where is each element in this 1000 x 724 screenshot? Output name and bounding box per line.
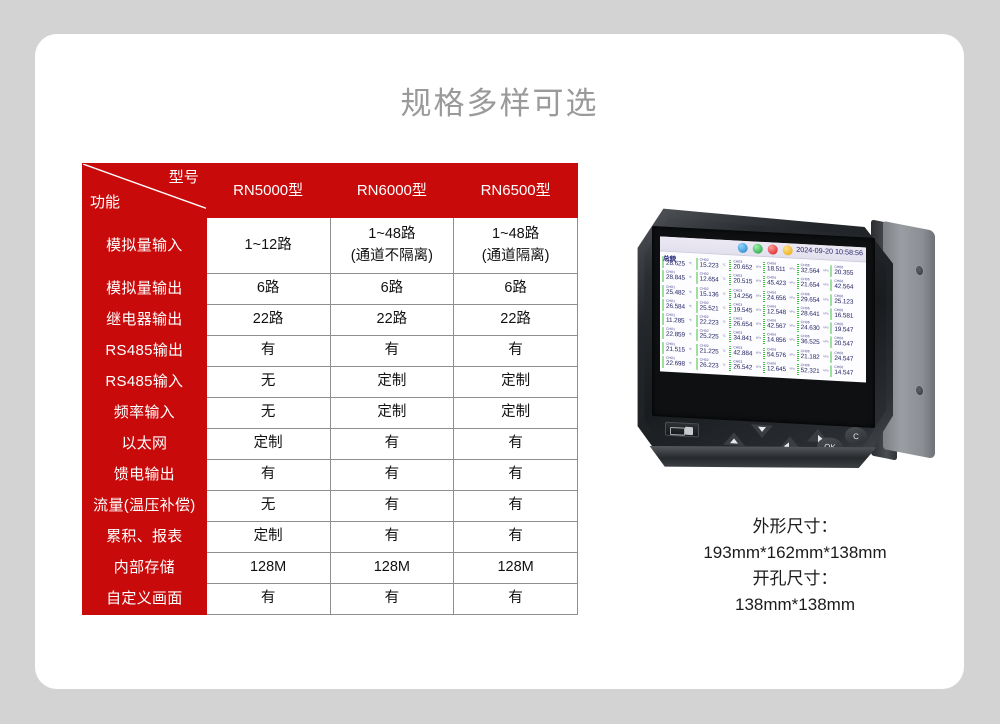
down-button[interactable] — [751, 424, 773, 438]
table-cell: 6路 — [206, 274, 330, 305]
table-cell: 有 — [454, 460, 578, 491]
channel-bar-indicator — [729, 346, 731, 357]
table-row: 自定义画面 有 有 有 — [83, 584, 578, 615]
cell-value: 1~12路 — [245, 237, 292, 253]
channel-bar-indicator — [763, 319, 765, 330]
column-header-model-1: RN5000型 — [206, 164, 330, 218]
table-row: 累积、报表 定制 有 有 — [83, 522, 578, 553]
screw-icon — [916, 385, 923, 395]
table-cell: 定制 — [454, 367, 578, 398]
channel-bar-indicator — [662, 356, 664, 367]
column-header-model-2: RN6000型 — [330, 164, 454, 218]
cutout-dimension-label: 开孔尺寸： — [600, 566, 990, 592]
table-cell: 有 — [330, 429, 454, 460]
recorder-device: 2024-09-20 10:58:56 总貌 ℃CH0128.625℃CH021… — [635, 206, 935, 471]
channel-unit: kPa — [790, 338, 795, 342]
channel-bar-indicator — [696, 344, 698, 355]
channel-bar-indicator — [662, 285, 664, 296]
table-cell: 有 — [454, 491, 578, 522]
channel-unit: ℃ — [722, 348, 725, 352]
spec-table-body: 型号 功能 RN5000型 RN6000型 RN6500型 模拟量输入 1~12… — [83, 164, 578, 615]
bell-icon[interactable] — [768, 244, 778, 255]
table-cell: 有 — [330, 336, 454, 367]
lcd-timestamp: 2024-09-20 10:58:56 — [796, 245, 863, 258]
channel-bar-indicator — [763, 362, 765, 373]
channel-bar-indicator — [763, 333, 765, 344]
table-cell: 1~48路 (通道隔离) — [454, 218, 578, 274]
table-cell: 128M — [206, 553, 330, 584]
channel-unit: ℃ — [689, 289, 692, 293]
table-row: 模拟量输出 6路 6路 6路 — [83, 274, 578, 305]
lcd-toolbar-icons — [738, 243, 793, 256]
channel-unit: ℃ — [722, 320, 725, 324]
cell-subvalue: (通道不隔离) — [331, 246, 454, 267]
channel-unit: ℃ — [689, 318, 692, 322]
cell-subvalue: (通道隔离) — [454, 246, 577, 267]
table-cell: 有 — [206, 336, 330, 367]
channel-unit: kPa — [790, 366, 795, 370]
table-row: 内部存储 128M 128M 128M — [83, 553, 578, 584]
channel-bar-indicator — [830, 323, 832, 334]
lcd-channel-grid: ℃CH0128.625℃CH0215.223℃CH0320.652kPaCH04… — [660, 254, 866, 382]
channel-unit: ℃ — [722, 363, 725, 367]
channel-bar-indicator — [830, 351, 832, 362]
channel-unit: kPa — [823, 311, 828, 315]
channel-bar-indicator — [662, 314, 664, 325]
channel-bar-indicator — [797, 335, 799, 346]
channel-unit: kPa — [790, 352, 795, 356]
channel-unit: ℃ — [722, 263, 725, 267]
channel-unit: ℃ — [689, 361, 692, 365]
channel-bar-indicator — [729, 274, 731, 285]
clear-button[interactable]: C — [845, 426, 867, 445]
channel-unit: kPa — [756, 364, 761, 368]
key-icon[interactable] — [783, 245, 793, 256]
corner-header-cell: 型号 功能 — [83, 164, 207, 218]
channel-unit: kPa — [823, 354, 828, 358]
channel-unit: kPa — [756, 322, 761, 326]
channel-unit: kPa — [790, 309, 795, 313]
corner-row-header: 功能 — [90, 192, 120, 214]
channel-unit: kPa — [790, 266, 795, 270]
up-button[interactable] — [723, 432, 745, 446]
product-photo: 2024-09-20 10:58:56 总貌 ℃CH0128.625℃CH021… — [600, 184, 990, 654]
channel-unit: kPa — [756, 279, 761, 283]
table-row: 流量(温压补偿) 无 有 有 — [83, 491, 578, 522]
table-cell: 无 — [206, 491, 330, 522]
table-cell: 无 — [206, 398, 330, 429]
channel-bar-indicator — [696, 315, 698, 326]
device-screen-bezel: 2024-09-20 10:58:56 总貌 ℃CH0128.625℃CH021… — [652, 226, 875, 428]
row-header: 频率输入 — [83, 398, 207, 429]
row-header: 流量(温压补偿) — [83, 491, 207, 522]
channel-bar-indicator — [830, 365, 832, 376]
table-row: RS485输入 无 定制 定制 — [83, 367, 578, 398]
table-cell: 无 — [206, 367, 330, 398]
channel-unit: kPa — [790, 281, 795, 285]
row-header: 自定义画面 — [83, 584, 207, 615]
table-cell: 有 — [330, 584, 454, 615]
table-cell: 6路 — [454, 274, 578, 305]
outline-dimension-value: 193mm*162mm*138mm — [600, 540, 990, 566]
channel-unit: kPa — [823, 325, 828, 329]
channel-bar-indicator — [763, 262, 765, 273]
content-card: 规格多样可选 型号 功能 RN5000型 RN6000型 RN6500型 模拟量… — [35, 34, 964, 689]
refresh-icon[interactable] — [753, 243, 763, 254]
table-cell: 定制 — [206, 522, 330, 553]
row-header: 内部存储 — [83, 553, 207, 584]
table-cell: 有 — [330, 460, 454, 491]
channel-bar-indicator — [696, 287, 698, 298]
table-cell: 22路 — [454, 305, 578, 336]
dimension-info: 外形尺寸： 193mm*162mm*138mm 开孔尺寸： 138mm*138m… — [600, 514, 990, 618]
cell-value: 1~48路 — [492, 226, 539, 242]
table-cell: 定制 — [454, 398, 578, 429]
channel-unit: kPa — [823, 368, 828, 372]
channel-unit: ℃ — [689, 346, 692, 350]
channel-bar-indicator — [797, 278, 799, 289]
channel-unit: kPa — [756, 307, 761, 311]
channel-unit: kPa — [823, 297, 828, 301]
row-header: 模拟量输出 — [83, 274, 207, 305]
table-cell: 1~12路 — [206, 218, 330, 274]
channel-bar-indicator — [763, 276, 765, 287]
table-cell: 有 — [206, 460, 330, 491]
table-cell: 定制 — [330, 367, 454, 398]
channel-bar-indicator — [729, 260, 731, 271]
channel-unit: ℃ — [689, 275, 692, 279]
usb-port[interactable] — [665, 422, 699, 438]
row-header: RS485输出 — [83, 336, 207, 367]
table-cell: 有 — [454, 429, 578, 460]
channel-bar-indicator — [729, 317, 731, 328]
page-title: 规格多样可选 — [35, 78, 964, 123]
row-header: RS485输入 — [83, 367, 207, 398]
table-cell: 有 — [454, 584, 578, 615]
channel-bar-indicator — [696, 330, 698, 341]
pencil-icon[interactable] — [738, 243, 748, 254]
row-header: 继电器输出 — [83, 305, 207, 336]
channel-unit: kPa — [823, 339, 828, 343]
channel-bar-indicator — [797, 349, 799, 360]
screw-icon — [916, 265, 923, 275]
channel-bar-indicator — [662, 328, 664, 339]
table-row: 馈电输出 有 有 有 — [83, 460, 578, 491]
channel-unit: kPa — [756, 265, 761, 269]
channel-unit: ℃ — [689, 304, 692, 308]
channel-bar-indicator — [662, 257, 664, 268]
channel-bar-indicator — [729, 360, 731, 371]
cutout-dimension-value: 138mm*138mm — [600, 592, 990, 618]
channel-bar-indicator — [830, 337, 832, 348]
channel-value: 20.547 — [834, 340, 864, 350]
channel-bar-indicator — [662, 271, 664, 282]
table-row: RS485输出 有 有 有 — [83, 336, 578, 367]
channel-bar-indicator — [763, 290, 765, 301]
channel-value: 14.547 — [834, 369, 864, 379]
outline-dimension-label: 外形尺寸： — [600, 514, 990, 540]
channel-value: 19.547 — [834, 326, 864, 336]
channel-value: 20.355 — [834, 269, 864, 279]
channel-bar-indicator — [729, 331, 731, 342]
channel-bar-indicator — [662, 299, 664, 310]
table-cell: 有 — [454, 522, 578, 553]
channel-value: 24.547 — [834, 354, 864, 364]
channel-bar-indicator — [729, 303, 731, 314]
channel-unit: ℃ — [722, 277, 725, 281]
table-cell: 有 — [206, 584, 330, 615]
channel-bar-indicator — [830, 294, 832, 305]
lcd-screen[interactable]: 2024-09-20 10:58:56 总貌 ℃CH0128.625℃CH021… — [660, 236, 866, 382]
channel-bar-indicator — [797, 264, 799, 275]
channel-bar-indicator — [696, 301, 698, 312]
spec-table-header-row: 型号 功能 RN5000型 RN6000型 RN6500型 — [83, 164, 578, 218]
channel-bar-indicator — [696, 258, 698, 269]
specification-table: 型号 功能 RN5000型 RN6000型 RN6500型 模拟量输入 1~12… — [82, 163, 578, 615]
table-cell: 定制 — [330, 398, 454, 429]
channel-unit: kPa — [790, 323, 795, 327]
channel-unit: ℃ — [722, 291, 725, 295]
lcd-channel-cell: kPaCH0614.547 — [830, 364, 864, 380]
channel-bar-indicator — [830, 308, 832, 319]
table-row: 以太网 定制 有 有 — [83, 429, 578, 460]
channel-unit: ℃ — [689, 332, 692, 336]
column-header-model-3: RN6500型 — [454, 164, 578, 218]
channel-unit: kPa — [756, 336, 761, 340]
channel-unit: ℃ — [689, 261, 692, 265]
corner-column-header: 型号 — [169, 167, 199, 189]
table-cell: 定制 — [206, 429, 330, 460]
table-row: 继电器输出 22路 22路 22路 — [83, 305, 578, 336]
channel-unit: kPa — [790, 295, 795, 299]
device-bottom-lip — [637, 446, 889, 468]
channel-bar-indicator — [797, 364, 799, 375]
table-cell: 22路 — [330, 305, 454, 336]
channel-unit: kPa — [823, 282, 828, 286]
channel-unit: ℃ — [722, 334, 725, 338]
channel-bar-indicator — [797, 307, 799, 318]
table-row: 频率输入 无 定制 定制 — [83, 398, 578, 429]
table-cell: 6路 — [330, 274, 454, 305]
channel-bar-indicator — [830, 266, 832, 277]
row-header: 模拟量输入 — [83, 218, 207, 274]
table-cell: 1~48路 (通道不隔离) — [330, 218, 454, 274]
channel-bar-indicator — [696, 358, 698, 369]
table-cell: 22路 — [206, 305, 330, 336]
row-header: 馈电输出 — [83, 460, 207, 491]
table-cell: 有 — [330, 522, 454, 553]
channel-unit: kPa — [756, 293, 761, 297]
cell-value: 1~48路 — [368, 226, 415, 242]
channel-unit: kPa — [823, 268, 828, 272]
channel-unit: ℃ — [722, 306, 725, 310]
channel-bar-indicator — [797, 321, 799, 332]
table-cell: 128M — [454, 553, 578, 584]
channel-bar-indicator — [763, 347, 765, 358]
channel-bar-indicator — [662, 342, 664, 353]
row-header: 以太网 — [83, 429, 207, 460]
table-row: 模拟量输入 1~12路 1~48路 (通道不隔离) 1~48路 (通道隔离) — [83, 218, 578, 274]
table-cell: 有 — [454, 336, 578, 367]
table-cell: 128M — [330, 553, 454, 584]
channel-bar-indicator — [729, 289, 731, 300]
channel-bar-indicator — [696, 273, 698, 284]
row-header: 累积、报表 — [83, 522, 207, 553]
channel-value: 42.564 — [834, 283, 864, 293]
channel-value: 25.123 — [834, 297, 864, 307]
channel-value: 16.581 — [834, 312, 864, 322]
table-cell: 有 — [330, 491, 454, 522]
channel-bar-indicator — [763, 305, 765, 316]
channel-bar-indicator — [830, 280, 832, 291]
channel-bar-indicator — [797, 292, 799, 303]
channel-unit: kPa — [756, 350, 761, 354]
